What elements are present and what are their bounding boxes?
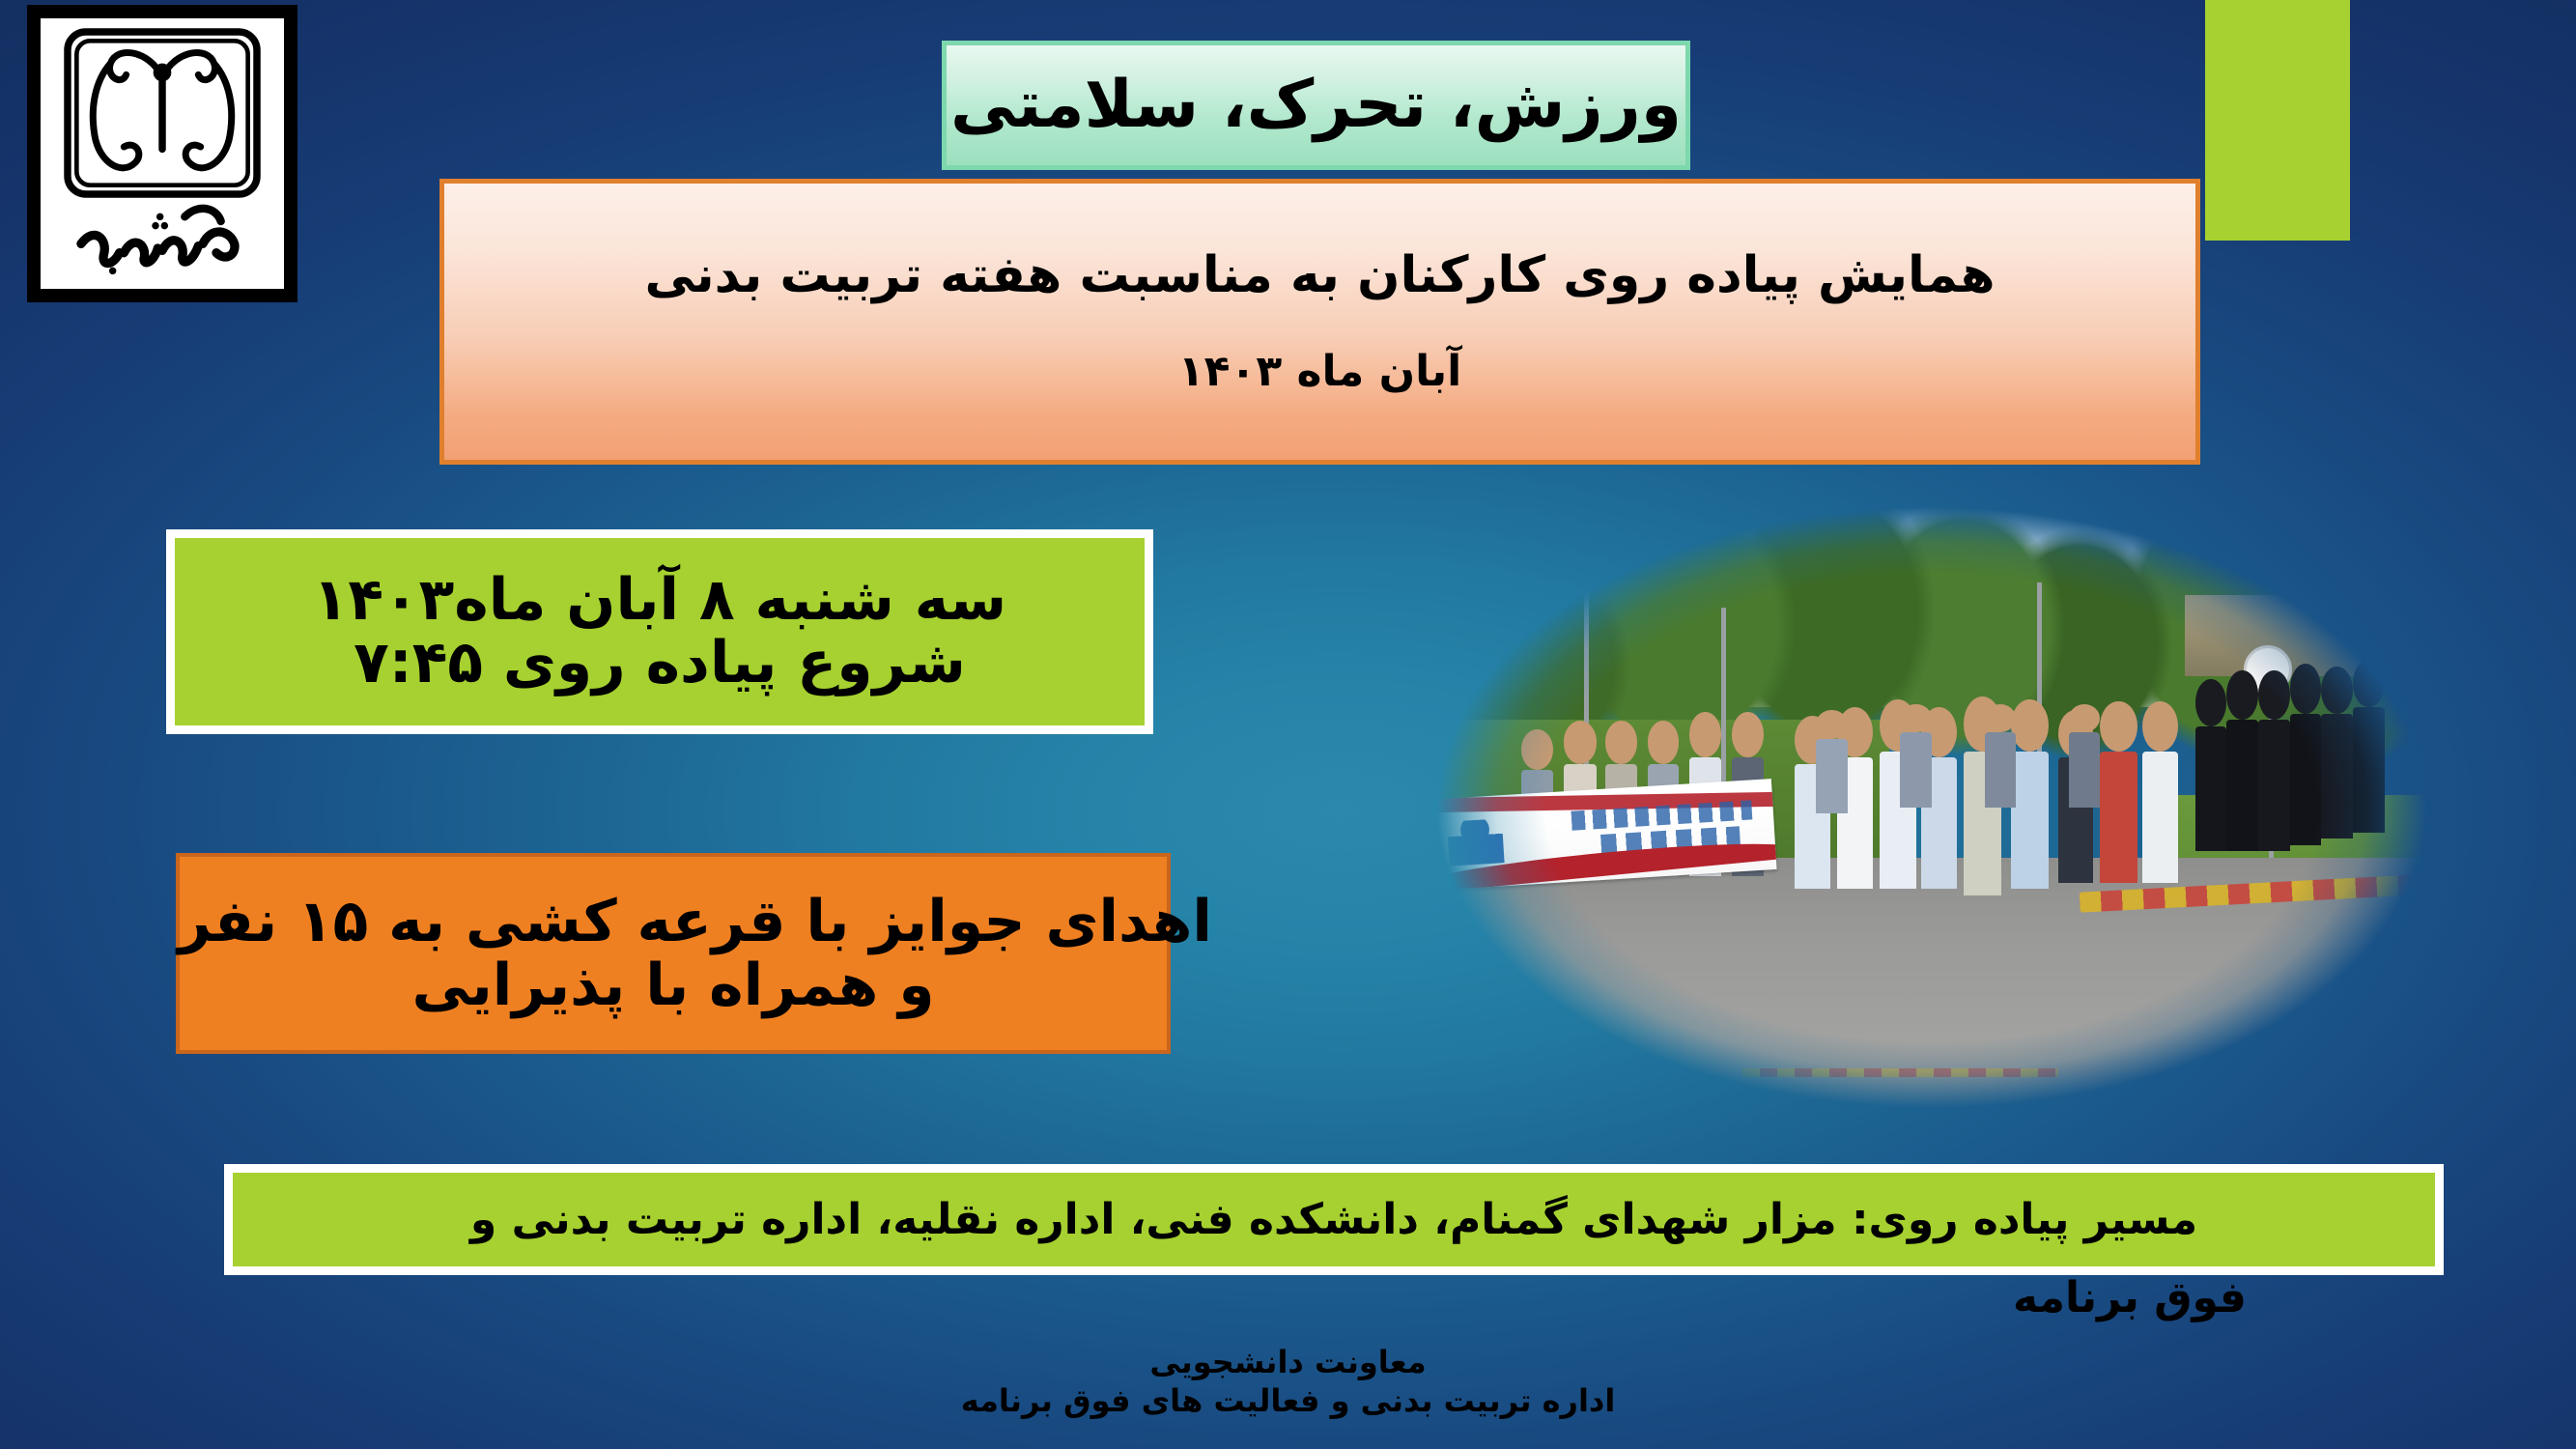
prize-box: اهدای جوایز با قرعه کشی به ۱۵ نفر و همرا… — [176, 853, 1171, 1054]
prize-line-1: اهدای جوایز با قرعه کشی به ۱۵ نفر — [155, 890, 1236, 953]
route-line-1: مسیر پیاده روی: مزار شهدای گمنام، دانشکد… — [470, 1199, 2197, 1241]
footer-block: معاونت دانشجویی اداره تربیت بدنی و فعالی… — [0, 1343, 2576, 1420]
photo-person — [2321, 714, 2353, 839]
subtitle-line-2: آبان ماه ۱۴۰۳ — [1178, 351, 1461, 393]
subtitle-banner: همایش پیاده روی کارکنان به مناسبت هفته ت… — [439, 179, 2200, 465]
headline-text: ورزش، تحرک، سلامتی — [950, 72, 1682, 138]
route-line-2: فوق برنامه — [1816, 1277, 2444, 1320]
photo-person — [2142, 752, 2178, 883]
photo-person — [1816, 739, 1848, 814]
university-logo — [27, 5, 297, 302]
photo-banner-logo-icon — [1446, 818, 1504, 866]
photo-person — [2011, 752, 2049, 890]
footer-line-1: معاونت دانشجویی — [0, 1343, 2576, 1381]
event-photo — [1405, 495, 2458, 1121]
date-line-1: سه شنبه ۸ آبان ماه۱۴۰۳ — [313, 569, 1006, 632]
photo-person — [2290, 714, 2322, 845]
photo-curb-stripe-far — [1742, 1068, 2058, 1077]
date-time-box: سه شنبه ۸ آبان ماه۱۴۰۳ شروع پیاده روی ۷:… — [166, 529, 1153, 734]
headline-banner: ورزش، تحرک، سلامتی — [942, 41, 1690, 170]
photo-person — [1985, 732, 2017, 808]
footer-line-2: اداره تربیت بدنی و فعالیت های فوق برنامه — [0, 1381, 2576, 1420]
photo-person — [2226, 720, 2258, 851]
photo-banner-text-line-1 — [1571, 800, 1752, 831]
photo-person — [2353, 707, 2385, 833]
photo-person — [2195, 726, 2227, 852]
photo-person — [2069, 732, 2101, 808]
photo-person — [2258, 720, 2290, 851]
event-photo-image — [1405, 495, 2458, 1121]
logo-inner-field — [41, 18, 284, 289]
route-box: مسیر پیاده روی: مزار شهدای گمنام، دانشکد… — [224, 1164, 2444, 1275]
subtitle-line-1: همایش پیاده روی کارکنان به مناسبت هفته ت… — [645, 250, 1996, 300]
photo-person — [1900, 732, 1932, 808]
poster-canvas: ورزش، تحرک، سلامتی همایش پیاده روی کارکن… — [0, 0, 2576, 1449]
date-line-2: شروع پیاده روی ۷:۴۵ — [354, 632, 966, 695]
prize-line-2: و همراه با پذیرایی — [412, 953, 935, 1017]
guilan-emblem-icon — [41, 18, 284, 289]
photo-banner-text-line-2 — [1600, 826, 1741, 853]
accent-block-green — [2205, 0, 2350, 241]
photo-person — [2100, 752, 2137, 883]
